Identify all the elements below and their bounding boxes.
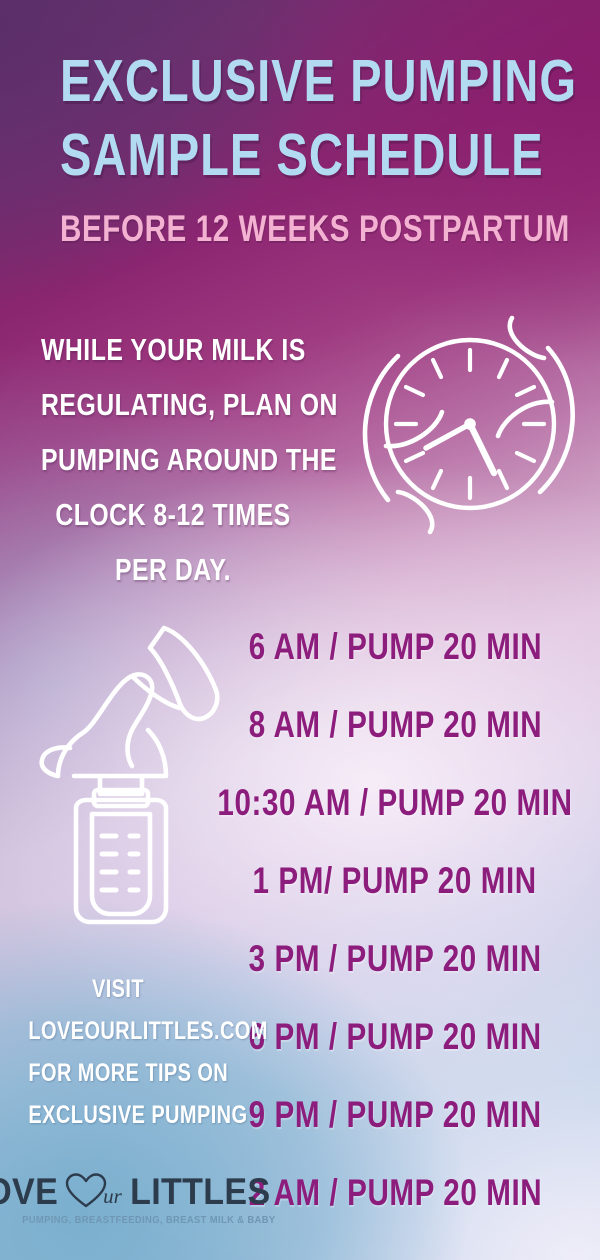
visit-callout: VISIT LOVEOURLITTLES.COM FOR MORE TIPS O… [6, 968, 230, 1136]
brand-word-love: LOVE [0, 1173, 58, 1210]
schedule-entry-label: 2 AM / PUMP 20 MIN [248, 1171, 542, 1215]
intro-line: CLOCK 8-12 TIMES [41, 487, 305, 542]
schedule-row: 1 PM/ PUMP 20 MIN [190, 842, 600, 920]
schedule-entry-label: 9 PM / PUMP 20 MIN [248, 1093, 541, 1137]
brand-logo: LOVE ur LITTLES PUMPING, BREASTFEEDING, … [16, 1170, 220, 1226]
intro-line: WHILE YOUR MILK IS [41, 322, 305, 377]
schedule-row: 9 PM / PUMP 20 MIN [190, 1076, 600, 1154]
schedule-entry-label: 3 PM / PUMP 20 MIN [248, 937, 541, 981]
schedule-entry-label: 6 PM / PUMP 20 MIN [248, 1015, 541, 1059]
page-subtitle: BEFORE 12 WEEKS POSTPARTUM [60, 206, 540, 252]
visit-line: EXCLUSIVE PUMPING [28, 1094, 207, 1136]
brand-word-ur: ur [103, 1186, 122, 1207]
intro-line: PER DAY. [41, 542, 305, 597]
clock-rotate-icon [352, 296, 588, 546]
schedule-row: 10:30 AM / PUMP 20 MIN [190, 764, 600, 842]
visit-line: FOR MORE TIPS ON [28, 1052, 207, 1094]
heart-icon: ur [64, 1170, 122, 1212]
page-title-line-1: EXCLUSIVE PUMPING [60, 44, 540, 118]
schedule-row: 8 AM / PUMP 20 MIN [190, 686, 600, 764]
schedule-row: 6 AM / PUMP 20 MIN [190, 608, 600, 686]
brand-word-littles: LITTLES [130, 1173, 270, 1210]
visit-website-url[interactable]: LOVEOURLITTLES.COM [28, 1010, 207, 1052]
infographic-poster: EXCLUSIVE PUMPING SAMPLE SCHEDULE BEFORE… [0, 0, 600, 1260]
pump-schedule-list: 6 AM / PUMP 20 MIN 8 AM / PUMP 20 MIN 10… [190, 608, 600, 1232]
schedule-entry-label: 8 AM / PUMP 20 MIN [248, 703, 542, 747]
intro-paragraph: WHILE YOUR MILK IS REGULATING, PLAN ON P… [8, 322, 338, 597]
schedule-entry-label: 10:30 AM / PUMP 20 MIN [217, 781, 572, 825]
page-title-line-2: SAMPLE SCHEDULE [60, 118, 540, 192]
visit-line: VISIT [28, 968, 207, 1010]
intro-line: REGULATING, PLAN ON [41, 377, 305, 432]
schedule-entry-label: 1 PM/ PUMP 20 MIN [253, 859, 537, 903]
schedule-row: 3 PM / PUMP 20 MIN [190, 920, 600, 998]
brand-tagline: PUMPING, BREASTFEEDING, BREAST MILK & BA… [22, 1215, 214, 1226]
intro-line: PUMPING AROUND THE [41, 432, 305, 487]
schedule-entry-label: 6 AM / PUMP 20 MIN [248, 625, 542, 669]
poster-header: EXCLUSIVE PUMPING SAMPLE SCHEDULE BEFORE… [0, 0, 600, 252]
brand-logo-wordmark: LOVE ur LITTLES [16, 1170, 220, 1212]
